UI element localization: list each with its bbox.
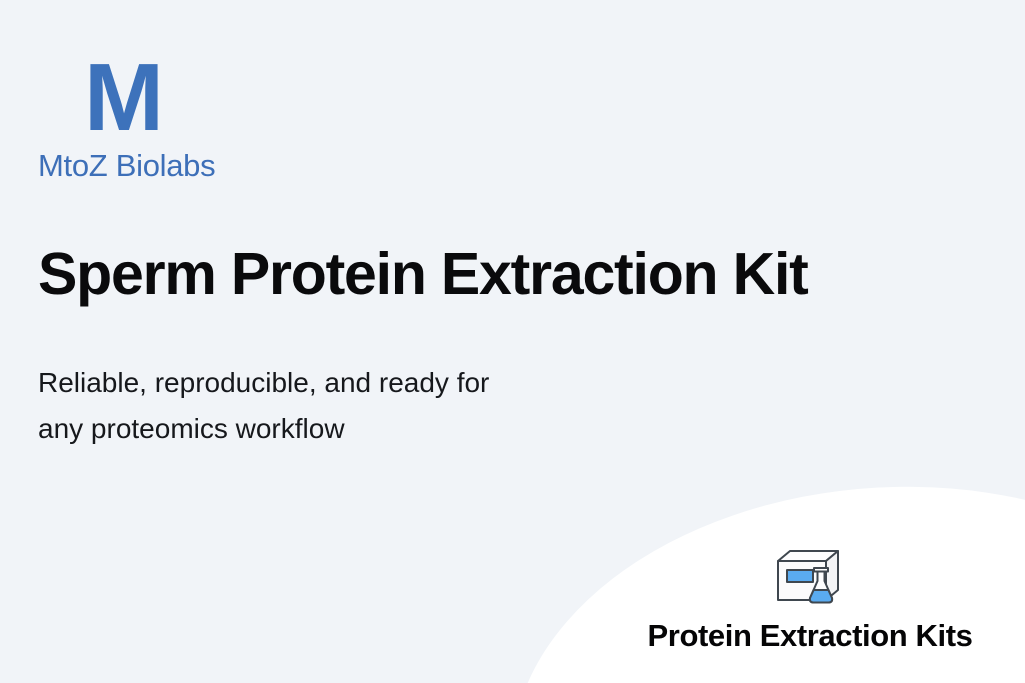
logo-mark-letter-m-icon: M [84,54,458,142]
product-callout[interactable]: Protein Extraction Kits [604,548,1016,654]
protein-extraction-kit-box-flask-icon [774,548,846,606]
brand-logo[interactable]: M MtoZ Biolabs [38,54,458,184]
brand-wordmark: MtoZ Biolabs [38,148,458,184]
page-subtitle: Reliable, reproducible, and ready for an… [38,360,489,452]
product-callout-label: Protein Extraction Kits [604,618,1016,654]
promo-banner: M MtoZ Biolabs Sperm Protein Extraction … [0,0,1025,683]
page-title: Sperm Protein Extraction Kit [38,243,808,306]
